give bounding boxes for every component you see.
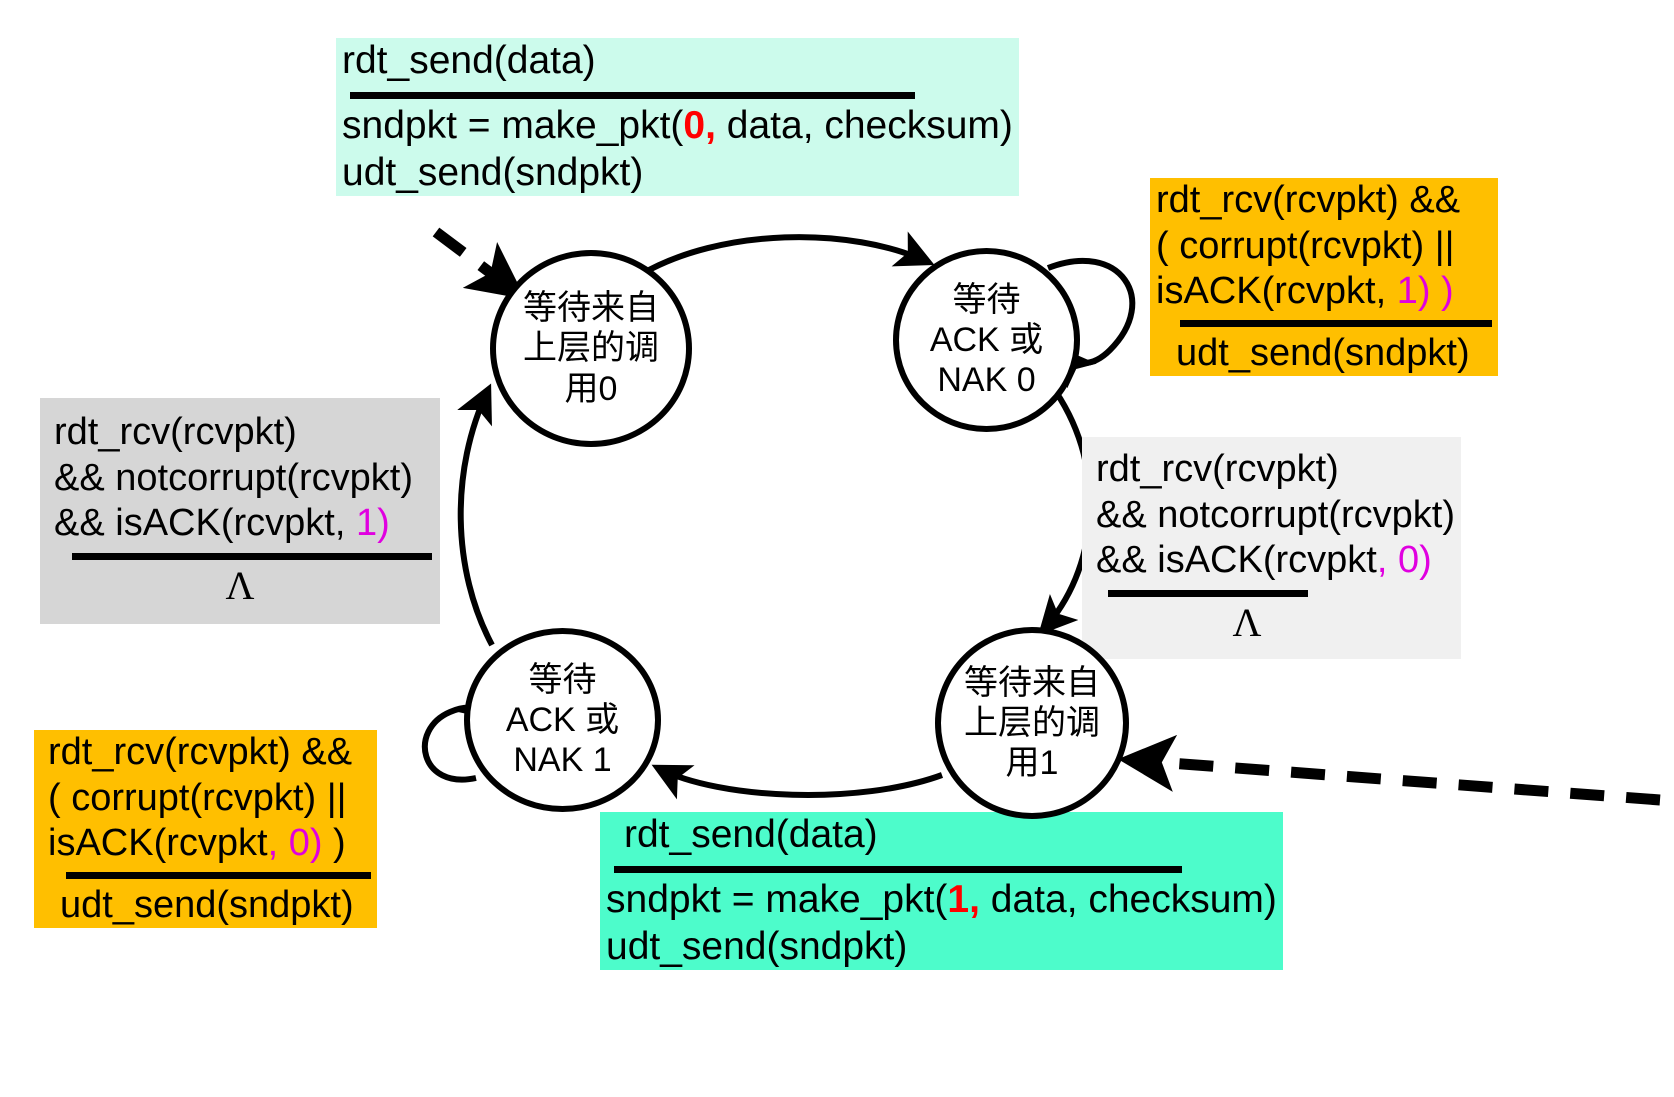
annotation-event-line1: rdt_rcv(rcvpkt)	[1082, 447, 1461, 493]
annotation-event-line2: && notcorrupt(rcvpkt)	[1082, 493, 1461, 539]
annotation-action-line2: udt_send(sndpkt)	[336, 150, 1019, 197]
arrow-call1-to-ack1	[658, 768, 942, 795]
state-label-line: 上层的调	[523, 328, 659, 368]
annotation-action-lambda: Λ	[40, 562, 440, 610]
dashed-entry-arrow-top	[436, 232, 516, 292]
divider-rule	[614, 866, 1182, 873]
state-wait-call-0[interactable]: 等待来自 上层的调 用0	[490, 250, 692, 447]
annotation-action-text: udt_send(sndpkt)	[40, 884, 354, 926]
annotation-event-line3: isACK(rcvpkt, 0) )	[34, 821, 377, 867]
annotation-bottom-left: rdt_rcv(rcvpkt) && ( corrupt(rcvpkt) || …	[34, 730, 377, 928]
annotation-left-gray: rdt_rcv(rcvpkt) && notcorrupt(rcvpkt) &&…	[40, 398, 440, 624]
annotation-event-line3: isACK(rcvpkt, 1) )	[1150, 269, 1498, 315]
annotation-event-line2: && notcorrupt(rcvpkt)	[40, 456, 440, 502]
state-label-line: NAK 1	[506, 740, 619, 780]
state-label-line: 等待	[506, 660, 619, 700]
annotation-event-line3: && isACK(rcvpkt, 1)	[40, 501, 440, 547]
state-label-line: ACK 或	[506, 700, 619, 740]
annotation-event-line2: ( corrupt(rcvpkt) ||	[1150, 224, 1498, 270]
annotation-right-gray: rdt_rcv(rcvpkt) && notcorrupt(rcvpkt) &&…	[1082, 437, 1461, 659]
annotation-top-left: rdt_send(data) sndpkt = make_pkt(0, data…	[336, 38, 1019, 196]
annotation-event-line1: rdt_rcv(rcvpkt) &&	[34, 730, 377, 776]
annotation-event-line2: ( corrupt(rcvpkt) ||	[34, 776, 377, 822]
state-label-line: 用1	[964, 743, 1100, 783]
annotation-event-line3: && isACK(rcvpkt, 0)	[1082, 538, 1461, 584]
annotation-event-text: rdt_send(data)	[600, 812, 1283, 859]
annotation-action-line1: sndpkt = make_pkt(0, data, checksum)	[342, 104, 1013, 147]
annotation-action-text: udt_send(sndpkt)	[1156, 332, 1470, 374]
annotation-event-line1: rdt_rcv(rcvpkt) &&	[1150, 178, 1498, 224]
state-wait-ack-0[interactable]: 等待 ACK 或 NAK 0	[893, 248, 1080, 432]
state-label-line: ACK 或	[930, 320, 1043, 360]
state-label-line: NAK 0	[930, 360, 1043, 400]
fsm-diagram-canvas: 等待来自 上层的调 用0 等待 ACK 或 NAK 0 等待 ACK 或 NAK…	[0, 0, 1674, 1097]
state-label-line: 等待来自	[964, 663, 1100, 703]
state-label-line: 等待	[930, 280, 1043, 320]
dashed-entry-arrow-bottom	[1130, 760, 1660, 800]
state-wait-call-1[interactable]: 等待来自 上层的调 用1	[935, 627, 1129, 819]
annotation-event-line1: rdt_rcv(rcvpkt)	[40, 410, 440, 456]
divider-rule	[350, 92, 915, 99]
annotation-action-lambda: Λ	[1082, 599, 1412, 647]
annotation-event-text: rdt_send(data)	[336, 38, 1019, 85]
divider-rule	[1108, 590, 1308, 597]
state-label-line: 等待来自	[523, 288, 659, 328]
state-wait-ack-1[interactable]: 等待 ACK 或 NAK 1	[464, 628, 661, 812]
divider-rule	[66, 872, 371, 879]
divider-rule	[72, 553, 432, 560]
annotation-bottom: rdt_send(data) sndpkt = make_pkt(1, data…	[600, 812, 1283, 970]
arrow-ack1-to-call0	[461, 390, 492, 645]
annotation-action-line2: udt_send(sndpkt)	[600, 924, 1283, 971]
divider-rule	[1180, 320, 1492, 327]
state-label-line: 上层的调	[964, 703, 1100, 743]
state-label-line: 用0	[523, 369, 659, 409]
arrow-call0-to-ack0	[640, 237, 928, 275]
annotation-action-line1: sndpkt = make_pkt(1, data, checksum)	[606, 878, 1277, 921]
annotation-top-right: rdt_rcv(rcvpkt) && ( corrupt(rcvpkt) || …	[1150, 178, 1498, 376]
